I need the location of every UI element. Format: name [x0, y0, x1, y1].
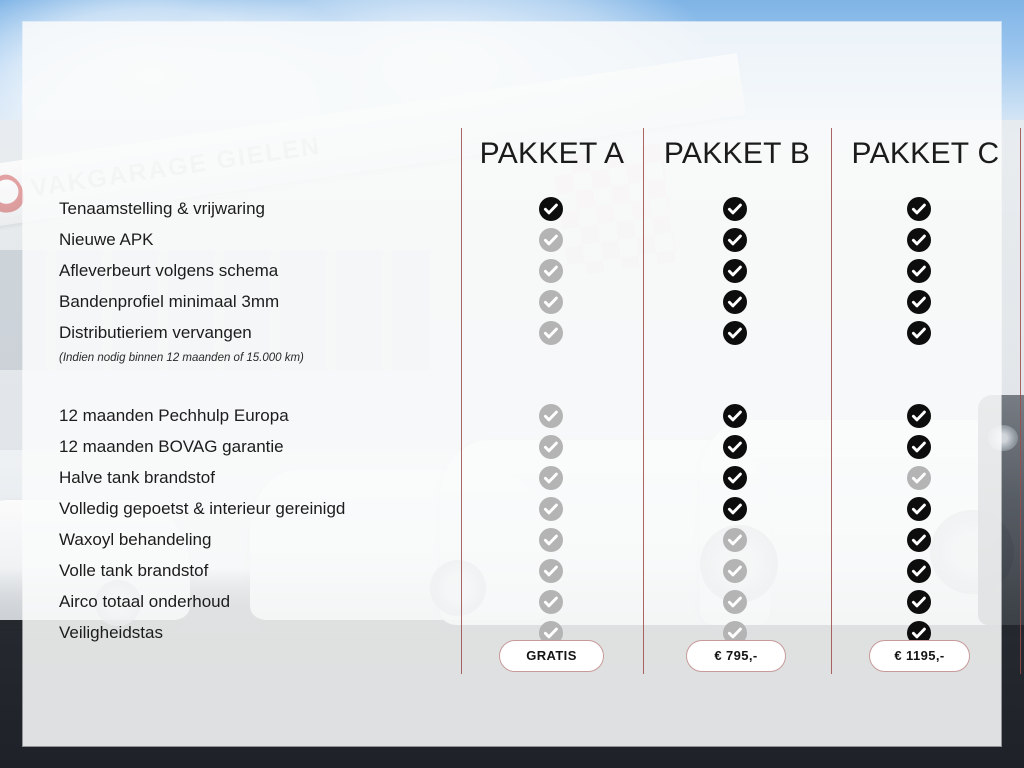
- feature-label: Nieuwe APK: [59, 225, 154, 256]
- check-included-icon-pakket-b: [723, 321, 747, 345]
- feature-row: Halve tank brandstof: [59, 463, 1009, 494]
- feature-note-row: (Indien nodig binnen 12 maanden of 15.00…: [59, 349, 1009, 371]
- check-included-icon-pakket-c: [907, 228, 931, 252]
- check-excluded-icon-pakket-a: [539, 466, 563, 490]
- price-badge-pakket-c[interactable]: € 1195,-: [869, 640, 970, 672]
- check-excluded-icon-pakket-a: [539, 497, 563, 521]
- column-header-pakket-b: PAKKET B: [643, 134, 831, 174]
- column-header-pakket-c: PAKKET C: [831, 134, 1020, 174]
- check-excluded-icon-pakket-c: [907, 466, 931, 490]
- price-badge-pakket-a[interactable]: GRATIS: [499, 640, 604, 672]
- feature-label: Veiligheidstas: [59, 618, 163, 649]
- feature-row: Volledig gepoetst & interieur gereinigd: [59, 494, 1009, 525]
- check-included-icon-pakket-c: [907, 497, 931, 521]
- check-included-icon-pakket-c: [907, 404, 931, 428]
- group-spacer: [59, 371, 1009, 401]
- feature-rows: Tenaamstelling & vrijwaringNieuwe APKAfl…: [59, 194, 1009, 649]
- feature-label: Volledig gepoetst & interieur gereinigd: [59, 494, 345, 525]
- feature-row: Airco totaal onderhoud: [59, 587, 1009, 618]
- check-included-icon-pakket-c: [907, 321, 931, 345]
- check-excluded-icon-pakket-a: [539, 321, 563, 345]
- check-excluded-icon-pakket-b: [723, 559, 747, 583]
- feature-row: 12 maanden Pechhulp Europa: [59, 401, 1009, 432]
- feature-row: Tenaamstelling & vrijwaring: [59, 194, 1009, 225]
- check-excluded-icon-pakket-b: [723, 528, 747, 552]
- column-divider: [1020, 128, 1021, 674]
- check-included-icon-pakket-b: [723, 259, 747, 283]
- check-excluded-icon-pakket-b: [723, 590, 747, 614]
- pricing-table-panel: PAKKET A PAKKET B PAKKET C Tenaamstellin…: [23, 22, 1001, 746]
- check-included-icon-pakket-b: [723, 435, 747, 459]
- check-included-icon-pakket-c: [907, 528, 931, 552]
- feature-row: Waxoyl behandeling: [59, 525, 1009, 556]
- feature-row: Volle tank brandstof: [59, 556, 1009, 587]
- check-included-icon-pakket-b: [723, 197, 747, 221]
- check-included-icon-pakket-c: [907, 259, 931, 283]
- price-badge-pakket-b[interactable]: € 795,-: [686, 640, 786, 672]
- column-header-pakket-a: PAKKET A: [461, 134, 643, 174]
- feature-label: Airco totaal onderhoud: [59, 587, 230, 618]
- check-excluded-icon-pakket-a: [539, 435, 563, 459]
- check-excluded-icon-pakket-a: [539, 228, 563, 252]
- check-excluded-icon-pakket-a: [539, 590, 563, 614]
- check-included-icon-pakket-b: [723, 290, 747, 314]
- check-included-icon-pakket-b: [723, 228, 747, 252]
- check-included-icon-pakket-b: [723, 466, 747, 490]
- check-included-icon-pakket-c: [907, 435, 931, 459]
- feature-row: Distributieriem vervangen: [59, 318, 1009, 349]
- feature-label: Halve tank brandstof: [59, 463, 215, 494]
- feature-row: Afleverbeurt volgens schema: [59, 256, 1009, 287]
- feature-row: Nieuwe APK: [59, 225, 1009, 256]
- feature-label: 12 maanden Pechhulp Europa: [59, 401, 289, 432]
- feature-label: Distributieriem vervangen: [59, 318, 252, 349]
- feature-row: Bandenprofiel minimaal 3mm: [59, 287, 1009, 318]
- check-included-icon-pakket-c: [907, 559, 931, 583]
- feature-label: Waxoyl behandeling: [59, 525, 211, 556]
- check-excluded-icon-pakket-a: [539, 259, 563, 283]
- feature-label: Bandenprofiel minimaal 3mm: [59, 287, 279, 318]
- feature-label: Afleverbeurt volgens schema: [59, 256, 278, 287]
- check-included-icon-pakket-a: [539, 197, 563, 221]
- check-included-icon-pakket-b: [723, 497, 747, 521]
- check-excluded-icon-pakket-a: [539, 290, 563, 314]
- feature-row: 12 maanden BOVAG garantie: [59, 432, 1009, 463]
- check-included-icon-pakket-c: [907, 290, 931, 314]
- feature-note: (Indien nodig binnen 12 maanden of 15.00…: [59, 349, 304, 369]
- check-excluded-icon-pakket-a: [539, 404, 563, 428]
- check-included-icon-pakket-b: [723, 404, 747, 428]
- check-included-icon-pakket-c: [907, 590, 931, 614]
- feature-label: Volle tank brandstof: [59, 556, 208, 587]
- feature-label: Tenaamstelling & vrijwaring: [59, 194, 265, 225]
- feature-label: 12 maanden BOVAG garantie: [59, 432, 284, 463]
- check-excluded-icon-pakket-a: [539, 528, 563, 552]
- check-included-icon-pakket-c: [907, 197, 931, 221]
- check-excluded-icon-pakket-a: [539, 559, 563, 583]
